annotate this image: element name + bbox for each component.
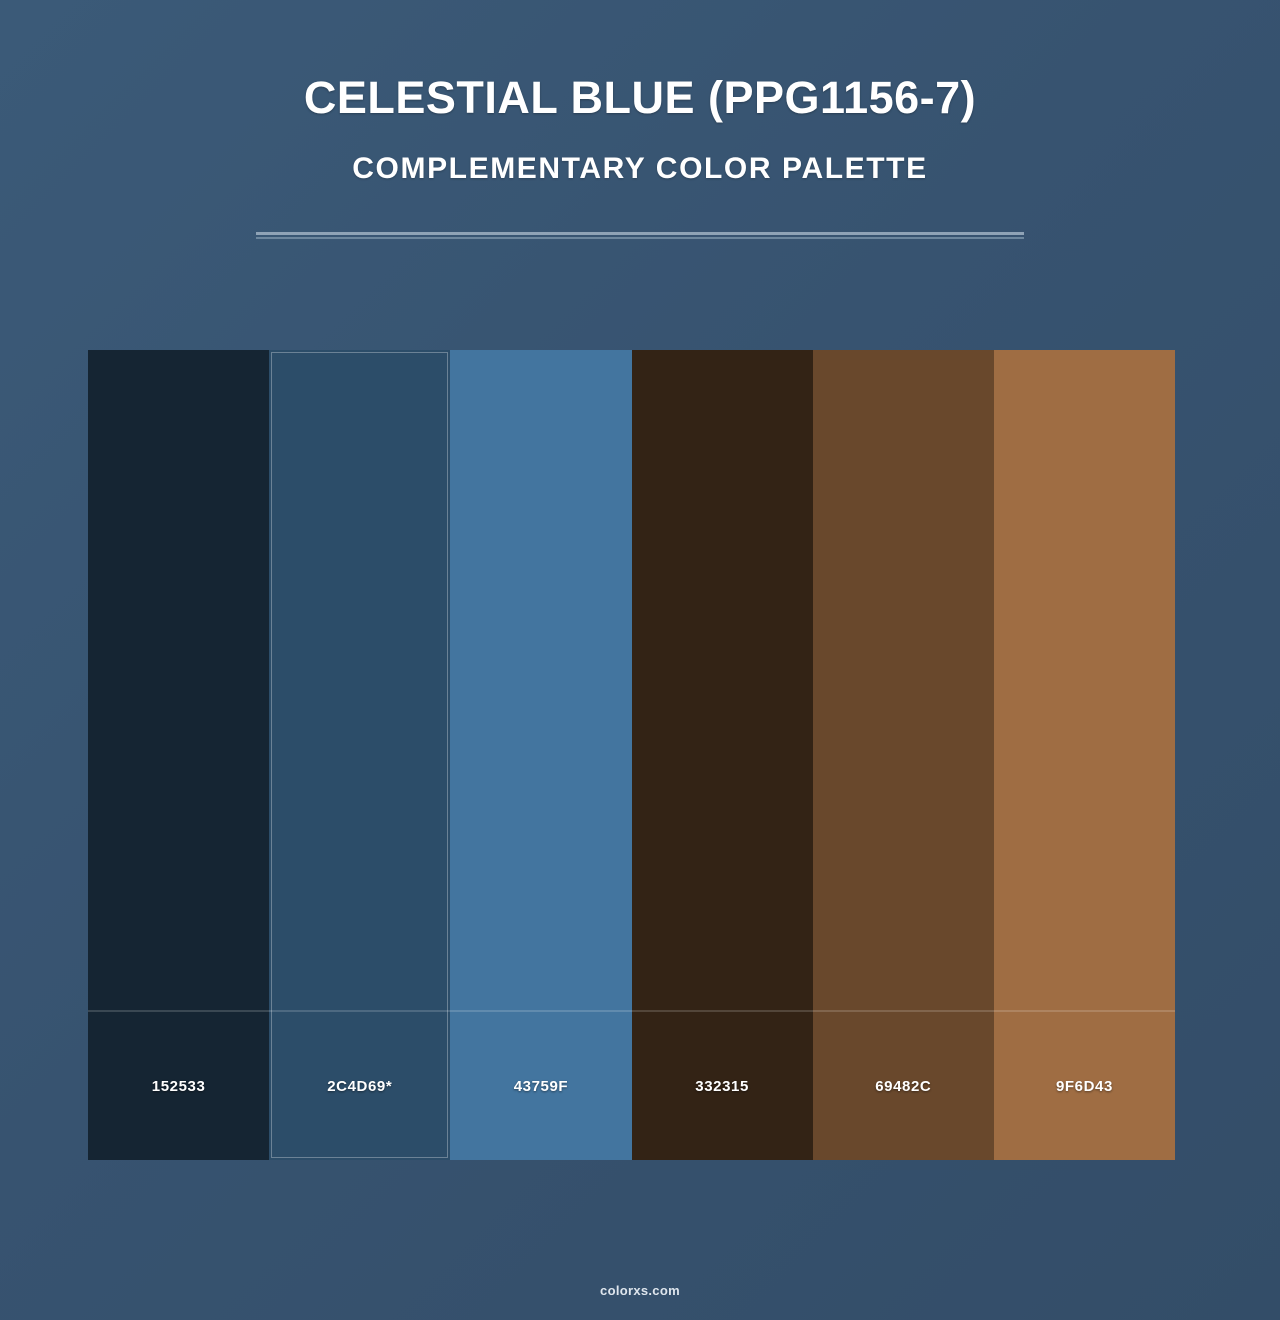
swatch-color-area: [994, 350, 1175, 1010]
header: CELESTIAL BLUE (PPG1156-7) COMPLEMENTARY…: [0, 0, 1280, 186]
color-swatch[interactable]: 9F6D43: [994, 350, 1175, 1160]
swatch-label-area: 332315: [632, 1012, 813, 1160]
color-palette: 1525332C4D69*43759F33231569482C9F6D43: [88, 350, 1175, 1160]
color-swatch[interactable]: 2C4D69*: [269, 350, 450, 1160]
swatch-hex-label: 332315: [695, 1078, 749, 1095]
color-swatch[interactable]: 332315: [632, 350, 813, 1160]
swatch-color-area: [450, 350, 631, 1010]
swatch-label-area: 69482C: [813, 1012, 994, 1160]
header-divider: [256, 232, 1024, 240]
page-root: CELESTIAL BLUE (PPG1156-7) COMPLEMENTARY…: [0, 0, 1280, 1320]
swatch-color-area: [632, 350, 813, 1010]
swatch-label-area: 43759F: [450, 1012, 631, 1160]
site-brand: colorxs.com: [0, 1283, 1280, 1298]
swatch-hex-label: 43759F: [514, 1078, 568, 1095]
swatch-hex-label: 9F6D43: [1056, 1078, 1113, 1095]
footer: colorxs.com: [0, 1283, 1280, 1298]
swatch-hex-label: 152533: [152, 1078, 206, 1095]
swatch-label-area: 2C4D69*: [269, 1012, 450, 1160]
divider-line-top: [256, 232, 1024, 235]
color-swatch[interactable]: 43759F: [450, 350, 631, 1160]
swatch-color-area: [269, 350, 450, 1010]
page-subtitle: COMPLEMENTARY COLOR PALETTE: [0, 152, 1280, 187]
page-title: CELESTIAL BLUE (PPG1156-7): [0, 72, 1280, 124]
swatch-label-area: 152533: [88, 1012, 269, 1160]
swatch-hex-label: 69482C: [875, 1078, 931, 1095]
color-swatch[interactable]: 69482C: [813, 350, 994, 1160]
swatch-label-area: 9F6D43: [994, 1012, 1175, 1160]
divider-line-bottom: [256, 237, 1024, 239]
color-swatch[interactable]: 152533: [88, 350, 269, 1160]
swatch-color-area: [88, 350, 269, 1010]
swatch-color-area: [813, 350, 994, 1010]
swatch-hex-label: 2C4D69*: [327, 1078, 392, 1095]
